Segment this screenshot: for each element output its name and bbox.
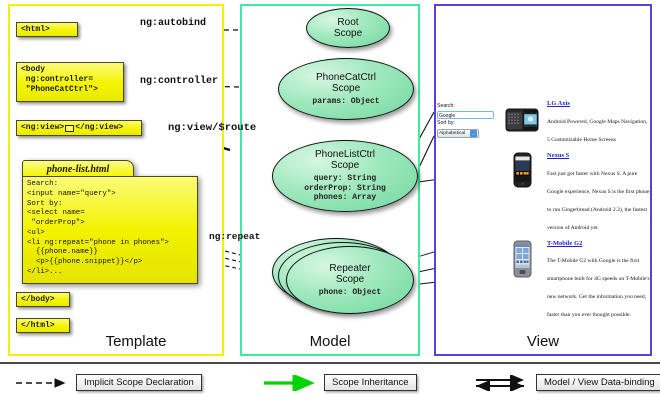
search-label: Search: [437,103,497,111]
phone-portrait-g2-icon [505,240,539,282]
note-code: Search: <input name="query"> Sort by: <s… [22,176,198,284]
phone-description: The T-Mobile G2 with Google is the first… [547,258,650,318]
panel-label-model: Model [242,333,418,350]
code-tag-body-close: </body> [16,292,70,307]
panel-label-view: View [436,333,650,350]
phone-name-link[interactable]: LG Axis [547,100,650,108]
legend-item-implicit-scope-declaration: Implicit Scope Declaration [14,374,202,391]
label-ng-controller: ng:controller [140,76,218,87]
phone-description: Fast just got faster with Nexus S. A pur… [547,171,650,231]
legend-label: Implicit Scope Declaration [76,374,202,391]
sort-label: Sort by: [437,120,497,128]
code-tag-ngview: <ng:view></ng:view> [16,120,142,136]
phone-info: Nexus S Fast just got faster with Nexus … [539,152,650,234]
scope-root: Root Scope [306,8,390,48]
sort-select-value: Alphabetical [439,131,465,136]
ngview-close-label: </ng:view> [75,123,123,133]
list-item[interactable]: T-Mobile G2 The T-Mobile G2 with Google … [505,240,650,322]
scope-phonelistctrl-title: PhoneListCtrl Scope [315,149,375,171]
ngview-open-label: <ng:view> [21,123,64,133]
scope-phonecatctrl-title: PhoneCatCtrl Scope [316,72,376,94]
view-search-form: Search: Google Sort by: Alphabetical ⌄ [437,103,497,138]
search-input[interactable]: Google [437,111,494,119]
phone-description: Android Powered, Google Maps Navigation,… [547,119,647,143]
phone-name-link[interactable]: Nexus S [547,152,650,160]
label-ng-repeat: ng:repeat [209,231,260,242]
scope-repeater: Repeater Scope phone: Object [286,246,414,314]
scope-phonecatctrl: PhoneCatCtrl Scope params: Object [278,58,414,120]
note-filename: phone-list.html [22,160,134,177]
ngview-placeholder-icon [65,125,74,132]
phone-thumbnail-tmobile-g2 [505,240,539,282]
label-ng-view-route: ng:view/$route [168,122,256,134]
scope-repeater-props: phone: Object [319,288,381,298]
panel-label-template: Template [10,333,222,350]
phone-thumbnail-lg-axis [505,100,539,144]
scope-repeater-title: Repeater Scope [329,263,370,285]
phone-portrait-nexus-icon [505,152,539,192]
legend-label: Scope Inheritance [324,374,417,391]
legend-item-model-view-data-binding: Model / View Data-binding [474,374,660,391]
legend-label: Model / View Data-binding [536,374,660,391]
list-item[interactable]: Nexus S Fast just got faster with Nexus … [505,152,650,234]
sort-select[interactable]: Alphabetical ⌄ [437,129,479,138]
green-arrow-icon [262,375,318,391]
phone-info: T-Mobile G2 The T-Mobile G2 with Google … [539,240,650,322]
phone-slider-landscape-icon [505,100,539,142]
legend-divider [0,362,660,364]
scope-phonelistctrl: PhoneListCtrl Scope query: String orderP… [272,140,418,212]
legend: Implicit Scope Declaration Scope Inherit… [0,362,660,405]
phone-name-link[interactable]: T-Mobile G2 [547,240,650,248]
code-tag-body-open: <body ng:controller= "PhoneCatCtrl"> [16,62,124,102]
phone-list: LG Axis Android Powered, Google Maps Nav… [505,100,650,327]
note-phone-list-html: phone-list.html Search: <input name="que… [22,160,198,284]
scope-phonelistctrl-props: query: String orderProp: String phones: … [304,174,386,203]
dashed-arrow-icon [14,375,70,391]
phone-thumbnail-nexus-s [505,152,539,192]
code-tag-html-close: </html> [16,318,70,333]
double-arrow-icon [474,375,530,391]
diagram-stage: Template Model View <html> <body ng:cont… [0,0,660,405]
scope-phonecatctrl-props: params: Object [312,97,379,107]
legend-item-scope-inheritance: Scope Inheritance [262,374,417,391]
label-ng-autobind: ng:autobind [140,18,206,29]
chevron-down-icon: ⌄ [470,130,477,137]
scope-root-title: Root Scope [334,17,362,39]
list-item[interactable]: LG Axis Android Powered, Google Maps Nav… [505,100,650,146]
phone-info: LG Axis Android Powered, Google Maps Nav… [539,100,650,146]
code-tag-html-open: <html> [16,22,78,37]
